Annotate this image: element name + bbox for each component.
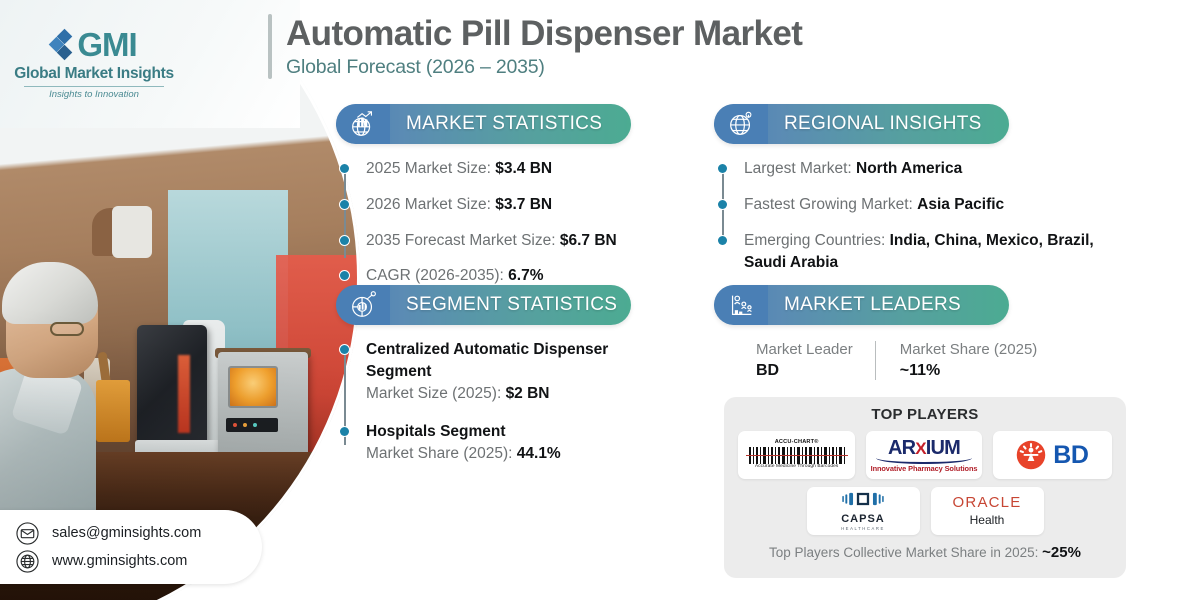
section-regional-insights: REGIONAL INSIGHTS Largest Market: North …: [714, 104, 1126, 274]
globe-pin-icon: [714, 104, 768, 144]
player-logo-arxium[interactable]: ARXIUM Innovative Pharmacy Solutions: [866, 431, 981, 479]
stat-value: 6.7%: [508, 267, 543, 284]
bd-sunburst-icon: [1016, 440, 1046, 470]
segment-value: 44.1%: [517, 445, 561, 462]
arxium-logo-icon: ARXIUM Innovative Pharmacy Solutions: [871, 438, 978, 472]
region-label: Fastest Growing Market:: [744, 196, 917, 213]
list-item: Fastest Growing Market: Asia Pacific: [744, 194, 1126, 216]
player-logo-accu-chart[interactable]: ACCU-CHART®: [738, 431, 855, 479]
bullet-dot: [718, 236, 727, 245]
region-value: North America: [856, 160, 962, 177]
accu-chart-strike: [746, 455, 848, 456]
top-players-panel: TOP PLAYERS ACCU-CHART®: [724, 397, 1126, 578]
market-share-label: Market Share (2025): [900, 341, 1038, 358]
region-label: Largest Market:: [744, 160, 856, 177]
segment-statistics-header: SEGMENT STATISTICS: [336, 285, 631, 325]
list-item: Centralized Automatic Dispenser Segment …: [366, 339, 646, 405]
page-subtitle: Global Forecast (2026 – 2035): [286, 56, 802, 79]
market-statistics-header: MARKET STATISTICS: [336, 104, 631, 144]
list-item: 2035 Forecast Market Size: $6.7 BN: [366, 230, 636, 252]
contact-email: sales@gminsights.com: [52, 525, 201, 541]
player-logo-bd[interactable]: BD: [993, 431, 1112, 479]
bullet-dot: [718, 200, 727, 209]
arxium-part-x: X: [915, 439, 926, 458]
gmi-company-name: Global Market Insights: [14, 65, 174, 83]
market-share-column: Market Share (2025) ~11%: [875, 341, 1060, 380]
globe-chart-icon: [336, 104, 390, 144]
collective-share-value: ~25%: [1042, 544, 1081, 561]
segment-statistics-label: SEGMENT STATISTICS: [390, 285, 617, 325]
bullet-dot: [340, 345, 349, 354]
infographic-canvas: GMI Global Market Insights Insights to I…: [0, 0, 1200, 600]
globe-icon: [16, 550, 39, 573]
section-segment-statistics: SEGMENT STATISTICS Centralized Automatic…: [336, 285, 646, 465]
bd-wordmark: BD: [1053, 441, 1088, 470]
market-leaders-label: MARKET LEADERS: [768, 285, 961, 325]
bullet-dot: [340, 236, 349, 245]
arxium-subtitle: Innovative Pharmacy Solutions: [871, 465, 978, 472]
oracle-subtitle: Health: [953, 514, 1022, 527]
regional-insights-list: Largest Market: North America Fastest Gr…: [714, 158, 1126, 274]
gmi-diamond-icon: [51, 30, 73, 60]
barcode-icon: [749, 447, 845, 464]
capsa-wordmark: CAPSA: [840, 514, 886, 525]
collective-share-label: Top Players Collective Market Share in 2…: [769, 545, 1042, 560]
top-players-title: TOP PLAYERS: [738, 406, 1112, 423]
gmi-logo-divider: [24, 86, 164, 87]
stat-value: $3.4 BN: [495, 160, 552, 177]
contact-website-row[interactable]: www.gminsights.com: [16, 550, 262, 573]
top-players-row-one: ACCU-CHART®: [738, 431, 1112, 479]
list-item: CAGR (2026-2035): 6.7%: [366, 265, 636, 287]
title-accent-bar: [268, 14, 272, 79]
gmi-logo[interactable]: GMI Global Market Insights Insights to I…: [14, 26, 174, 100]
podium-icon: [714, 285, 768, 325]
segment-label: Market Share (2025):: [366, 445, 517, 462]
list-item: 2025 Market Size: $3.4 BN: [366, 158, 636, 180]
list-item: 2026 Market Size: $3.7 BN: [366, 194, 636, 216]
bullet-dot: [340, 271, 349, 280]
market-leader-column: Market Leader BD: [756, 341, 875, 380]
stat-label: 2035 Forecast Market Size:: [366, 232, 560, 249]
gmi-tagline-part1: Insights to: [49, 89, 95, 100]
oracle-wordmark: ORACLE: [953, 495, 1022, 512]
regional-insights-label: REGIONAL INSIGHTS: [768, 104, 982, 144]
regional-insights-header: REGIONAL INSIGHTS: [714, 104, 1009, 144]
market-leader-value: BD: [756, 362, 853, 380]
stat-label: 2025 Market Size:: [366, 160, 495, 177]
market-share-value: ~11%: [900, 362, 1038, 380]
page-title: Automatic Pill Dispenser Market: [286, 14, 802, 54]
stat-label: 2026 Market Size:: [366, 196, 495, 213]
region-value: Asia Pacific: [917, 196, 1004, 213]
bullet-dot: [718, 164, 727, 173]
accu-chart-subtitle: Accurate Medicine Through Barcodes: [749, 465, 845, 470]
capsa-subtitle: HEALTHCARE: [840, 527, 886, 531]
page-title-block: Automatic Pill Dispenser Market Global F…: [268, 14, 802, 79]
bullet-dot: [340, 427, 349, 436]
segment-statistics-list: Centralized Automatic Dispenser Segment …: [336, 339, 646, 465]
region-label: Emerging Countries:: [744, 232, 890, 249]
section-market-statistics: MARKET STATISTICS 2025 Market Size: $3.4…: [336, 104, 636, 287]
market-leaders-stats: Market Leader BD Market Share (2025) ~11…: [714, 341, 1126, 380]
arxium-part-a: AR: [888, 437, 915, 459]
bullet-dot: [340, 164, 349, 173]
section-market-leaders: MARKET LEADERS Market Leader BD Market S…: [714, 285, 1126, 380]
stat-value: $3.7 BN: [495, 196, 552, 213]
market-statistics-label: MARKET STATISTICS: [390, 104, 602, 144]
top-players-row-two: CAPSA HEALTHCARE ORACLE Health: [738, 487, 1112, 535]
market-leader-label: Market Leader: [756, 341, 853, 358]
segment-value: $2 BN: [506, 385, 550, 402]
gmi-logo-text: GMI: [77, 26, 136, 64]
arxium-part-b: IUM: [926, 437, 960, 459]
envelope-icon: [16, 522, 39, 545]
top-players-footer: Top Players Collective Market Share in 2…: [738, 544, 1112, 561]
market-statistics-list: 2025 Market Size: $3.4 BN 2026 Market Si…: [336, 158, 636, 287]
capsa-bracket-icon: [840, 491, 886, 507]
contact-website: www.gminsights.com: [52, 553, 187, 569]
donut-chart-icon: [336, 285, 390, 325]
contact-email-row[interactable]: sales@gminsights.com: [16, 522, 262, 545]
list-item: Hospitals Segment Market Share (2025): 4…: [366, 421, 646, 465]
oracle-wordmark-icon: ORACLE Health: [953, 495, 1022, 528]
list-item: Largest Market: North America: [744, 158, 1126, 180]
market-leaders-header: MARKET LEADERS: [714, 285, 1009, 325]
gmi-tagline-part2: Innovation: [95, 89, 139, 100]
stat-label: CAGR (2026-2035):: [366, 267, 508, 284]
gmi-tagline: Insights to Innovation: [14, 89, 174, 100]
bullet-dot: [340, 200, 349, 209]
segment-heading: Hospitals Segment: [366, 423, 506, 440]
stat-value: $6.7 BN: [560, 232, 617, 249]
segment-label: Market Size (2025):: [366, 385, 506, 402]
list-item: Emerging Countries: India, China, Mexico…: [744, 230, 1126, 274]
segment-heading: Centralized Automatic Dispenser Segment: [366, 341, 608, 380]
player-logo-oracle-health[interactable]: ORACLE Health: [931, 487, 1044, 535]
player-logo-capsa[interactable]: CAPSA HEALTHCARE: [807, 487, 920, 535]
contact-panel: sales@gminsights.com www.gminsights.com: [0, 510, 262, 584]
accu-chart-title: ACCU-CHART®: [749, 440, 845, 446]
